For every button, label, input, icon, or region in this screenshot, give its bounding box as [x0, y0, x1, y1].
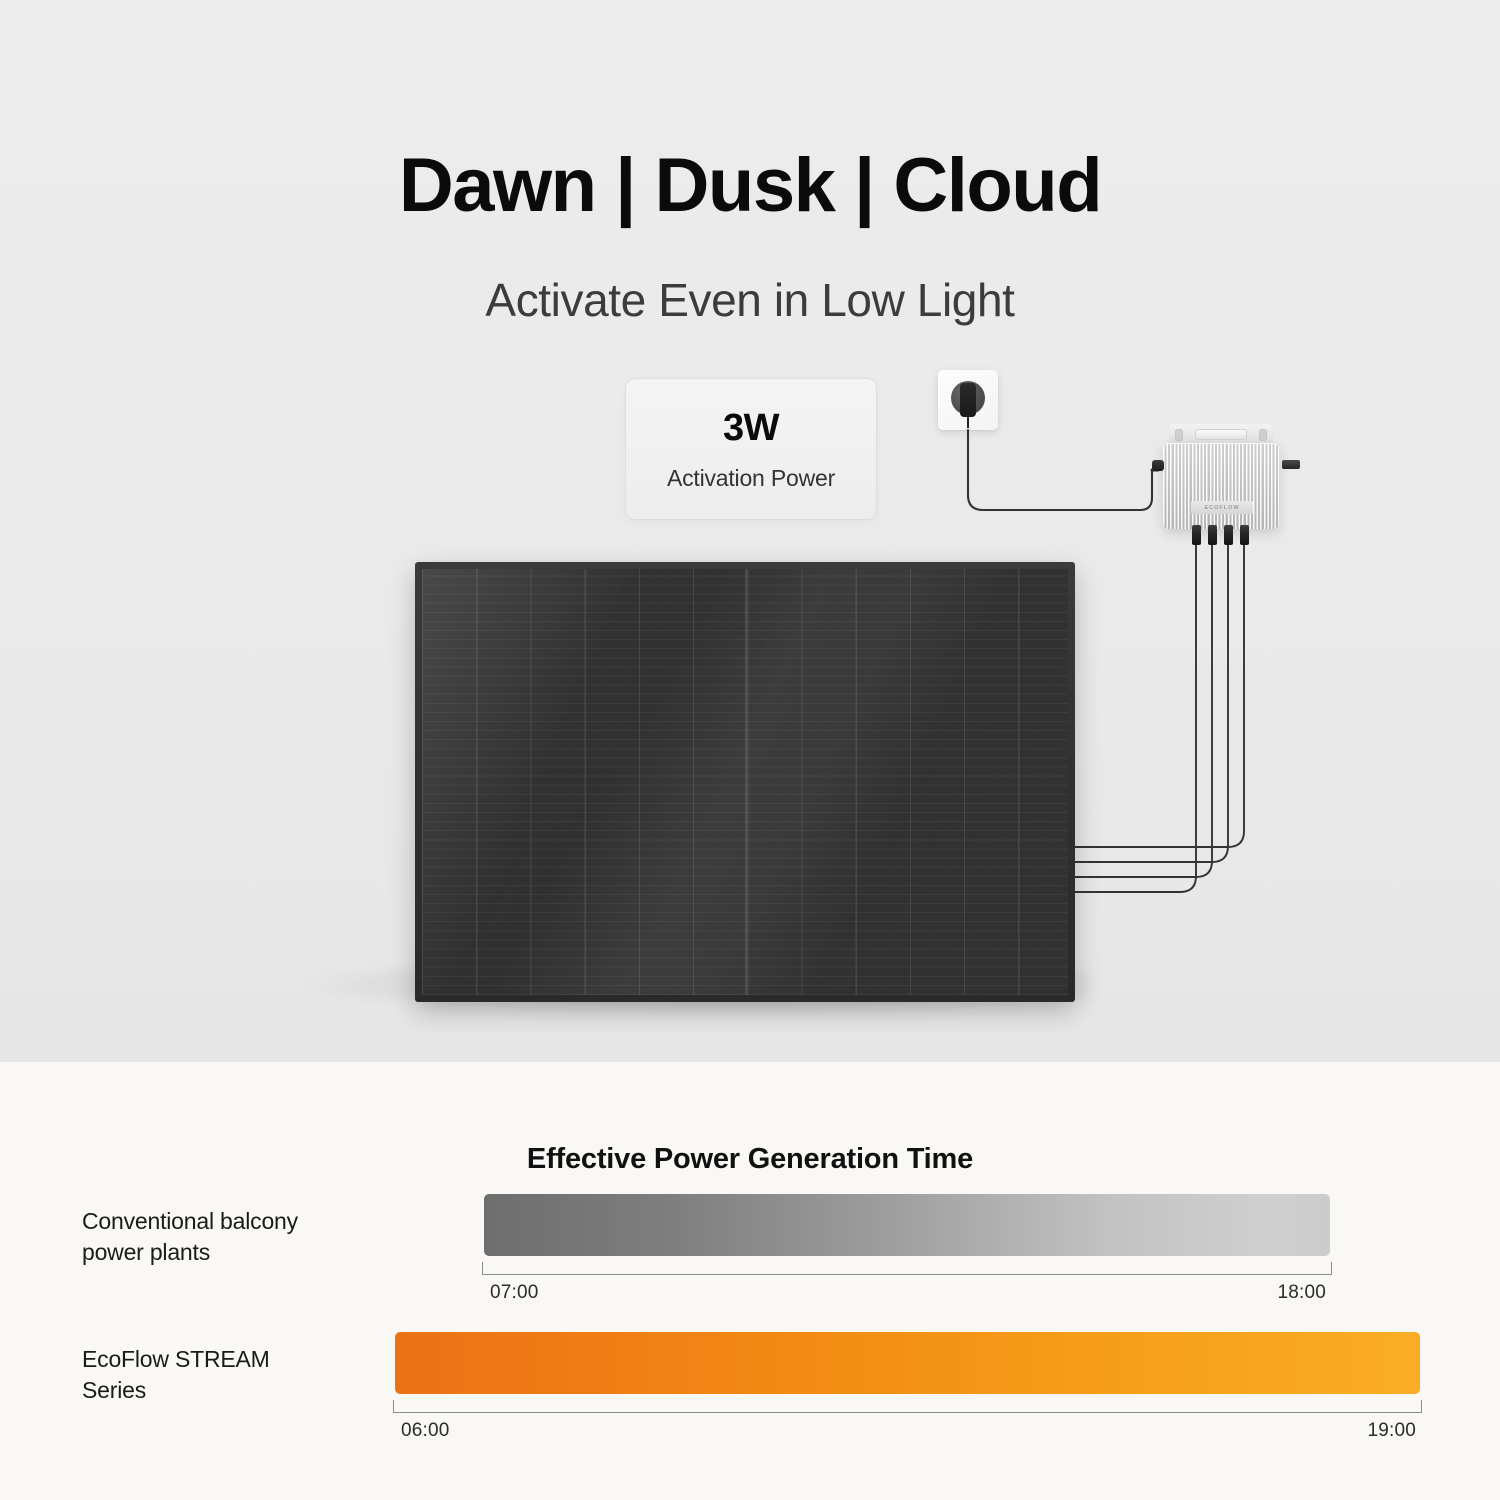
row-label-ecoflow: EcoFlow STREAM Series — [82, 1344, 382, 1406]
bar-conventional — [484, 1194, 1330, 1256]
ticks-ecoflow: 06:00 19:00 — [401, 1420, 1416, 1444]
activation-power-value: 3W — [723, 409, 779, 447]
row-label-ecoflow-line2: Series — [82, 1377, 146, 1403]
chart-section: Effective Power Generation Time Conventi… — [0, 1062, 1500, 1500]
row-label-conventional-line2: power plants — [82, 1239, 210, 1265]
bar-ecoflow — [395, 1332, 1420, 1394]
solar-panel-glare — [422, 569, 1068, 995]
solar-panel — [415, 562, 1075, 1002]
activation-power-card: 3W Activation Power — [625, 378, 877, 520]
axis-line-conventional — [482, 1274, 1332, 1275]
tick-end-ecoflow: 19:00 — [1367, 1420, 1416, 1442]
tick-start-ecoflow: 06:00 — [401, 1420, 450, 1442]
promo-page: Dawn | Dusk | Cloud Activate Even in Low… — [0, 0, 1500, 1500]
axis-cap-right-ecoflow — [1421, 1400, 1422, 1413]
inverter-dc-connector-3 — [1224, 525, 1233, 545]
axis-conventional — [482, 1262, 1332, 1275]
page-subtitle: Activate Even in Low Light — [0, 275, 1500, 326]
inverter-antenna-icon — [1282, 460, 1300, 469]
inverter-brand-label: ECOFLOW — [1191, 501, 1253, 514]
chart-title: Effective Power Generation Time — [0, 1143, 1500, 1176]
activation-power-label: Activation Power — [667, 467, 835, 490]
row-label-ecoflow-line1: EcoFlow STREAM — [82, 1346, 270, 1372]
power-plug-icon — [960, 383, 976, 417]
microinverter: ECOFLOW — [1160, 424, 1286, 548]
tick-end-conventional: 18:00 — [1277, 1282, 1326, 1304]
inverter-bracket-slot — [1195, 429, 1247, 440]
ticks-conventional: 07:00 18:00 — [490, 1282, 1326, 1306]
solar-panel-cells — [422, 569, 1068, 995]
axis-ecoflow — [393, 1400, 1422, 1413]
row-label-conventional: Conventional balcony power plants — [82, 1206, 382, 1268]
inverter-housing: ECOFLOW — [1163, 443, 1279, 529]
hero-section: Dawn | Dusk | Cloud Activate Even in Low… — [0, 0, 1500, 1062]
wall-socket — [938, 370, 1004, 436]
axis-line-ecoflow — [393, 1412, 1422, 1413]
tick-start-conventional: 07:00 — [490, 1282, 539, 1304]
row-label-conventional-line1: Conventional balcony — [82, 1208, 298, 1234]
page-title: Dawn | Dusk | Cloud — [0, 148, 1500, 224]
inverter-dc-connector-1 — [1192, 525, 1201, 545]
inverter-dc-connector-4 — [1240, 525, 1249, 545]
inverter-ac-port-icon — [1152, 460, 1164, 471]
plug-cable-stub — [967, 414, 969, 428]
inverter-dc-connector-2 — [1208, 525, 1217, 545]
axis-cap-right-conventional — [1331, 1262, 1332, 1275]
